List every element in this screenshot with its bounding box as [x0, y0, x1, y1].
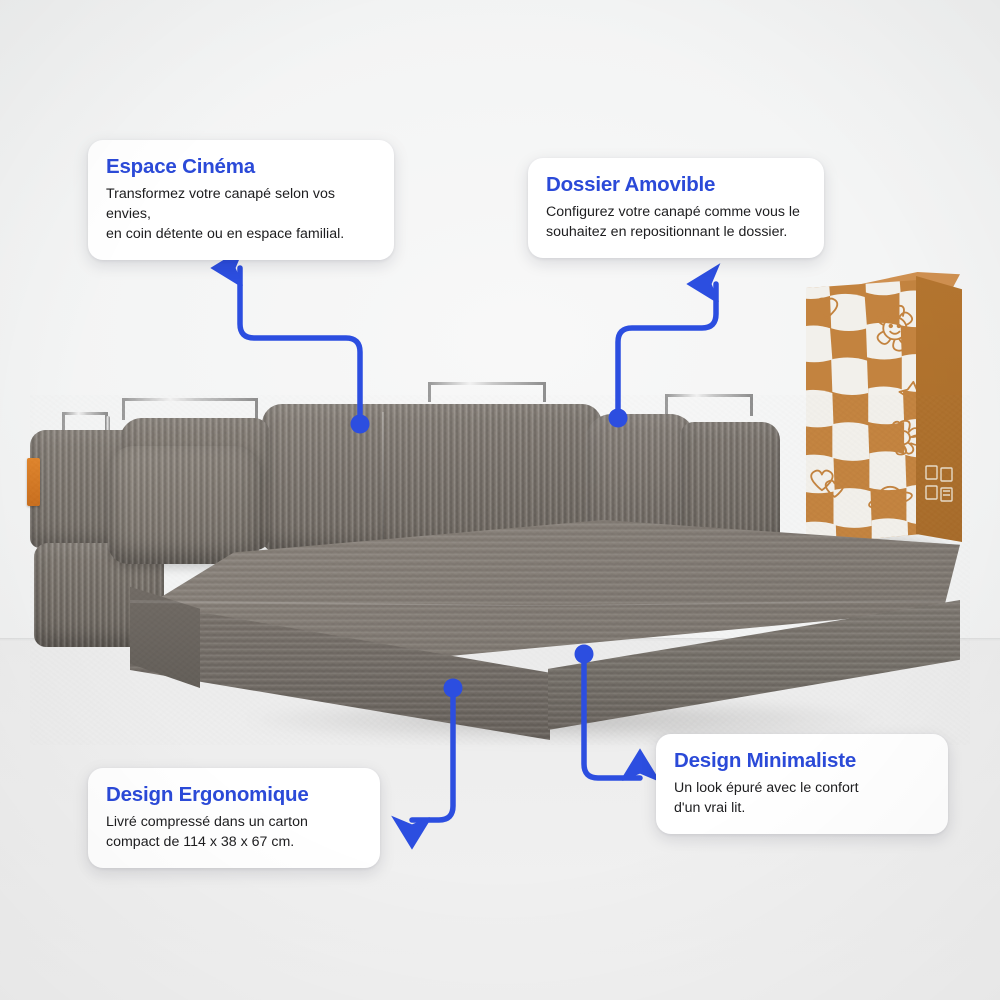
- product-infographic: Espace Cinéma Transformez votre canapé s…: [0, 0, 1000, 1000]
- scene-vignette: [0, 0, 1000, 1000]
